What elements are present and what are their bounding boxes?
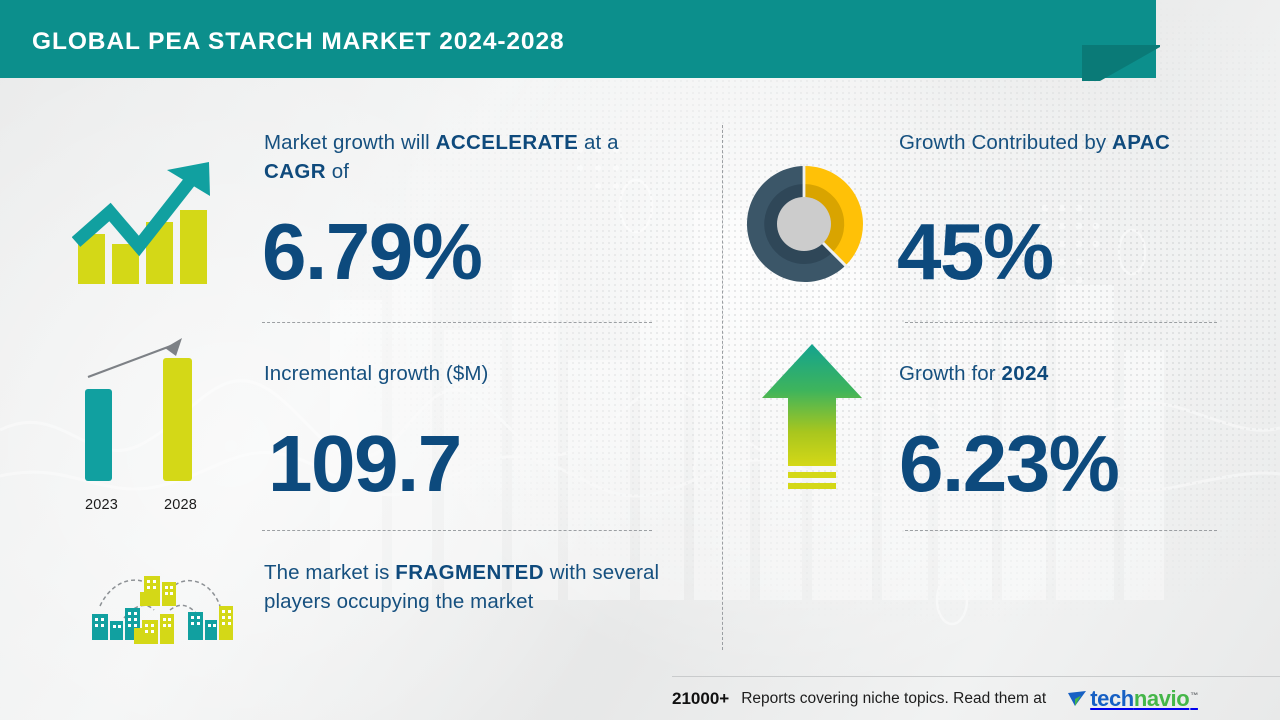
incremental-growth-label: Incremental growth ($M) [264,359,664,388]
bar-label-2028: 2028 [164,497,197,513]
footer-rule [672,676,1280,677]
trademark-symbol: ™ [1190,691,1198,700]
incremental-growth-value: 109.7 [268,424,461,504]
technavio-logo-mark-icon [1066,688,1088,710]
apac-lede: Growth Contributed by APAC [899,128,1229,157]
apac-lede-strong: APAC [1112,131,1170,154]
fragmentation-lede: The market is FRAGMENTED with several pl… [264,558,684,616]
bar-label-2023: 2023 [85,497,118,513]
buildings-network-icon [78,566,238,648]
cagr-lede-prefix: Market growth will [264,131,436,154]
cagr-lede-cagr: CAGR [264,160,326,183]
divider-left-lower [262,530,652,531]
growth-2024-lede: Growth for 2024 [899,359,1229,388]
growth-2024-lede-prefix: Growth for [899,362,1002,385]
growth-chart-icon [72,148,222,288]
fragmentation-lede-prefix: The market is [264,561,395,584]
cagr-lede-accelerate: ACCELERATE [436,131,579,154]
apac-lede-prefix: Growth Contributed by [899,131,1112,154]
up-arrow-icon [760,340,865,500]
divider-vertical-center [722,125,723,650]
logo-text-tech: tech [1090,686,1134,711]
logo-text-navio: navio [1134,686,1189,711]
technavio-logo-link[interactable]: technavio™ [1066,686,1198,712]
footer-tagline: Reports covering niche topics. Read them… [741,690,1046,708]
cagr-value: 6.79% [262,212,481,292]
footer-bar: 21000+ Reports covering niche topics. Re… [672,678,1280,720]
header-fold-corner-icon [1082,45,1160,81]
donut-chart-icon [742,162,866,286]
growth-2024-value: 6.23% [899,424,1118,504]
divider-right-upper [905,322,1217,323]
cagr-lede-suffix: of [326,160,349,183]
apac-value: 45% [897,212,1053,292]
report-count: 21000+ [672,689,729,709]
growth-2024-lede-strong: 2024 [1002,362,1049,385]
bar-compare-icon [62,330,232,490]
cagr-lede: Market growth will ACCELERATE at a CAGR … [264,128,664,186]
technavio-wordmark: technavio™ [1090,686,1198,712]
fragmentation-lede-strong: FRAGMENTED [395,561,544,584]
page-title: GLOBAL PEA STARCH MARKET 2024-2028 [32,28,565,56]
divider-right-lower [905,530,1217,531]
divider-left-upper [262,322,652,323]
cagr-lede-mid: at a [578,131,618,154]
